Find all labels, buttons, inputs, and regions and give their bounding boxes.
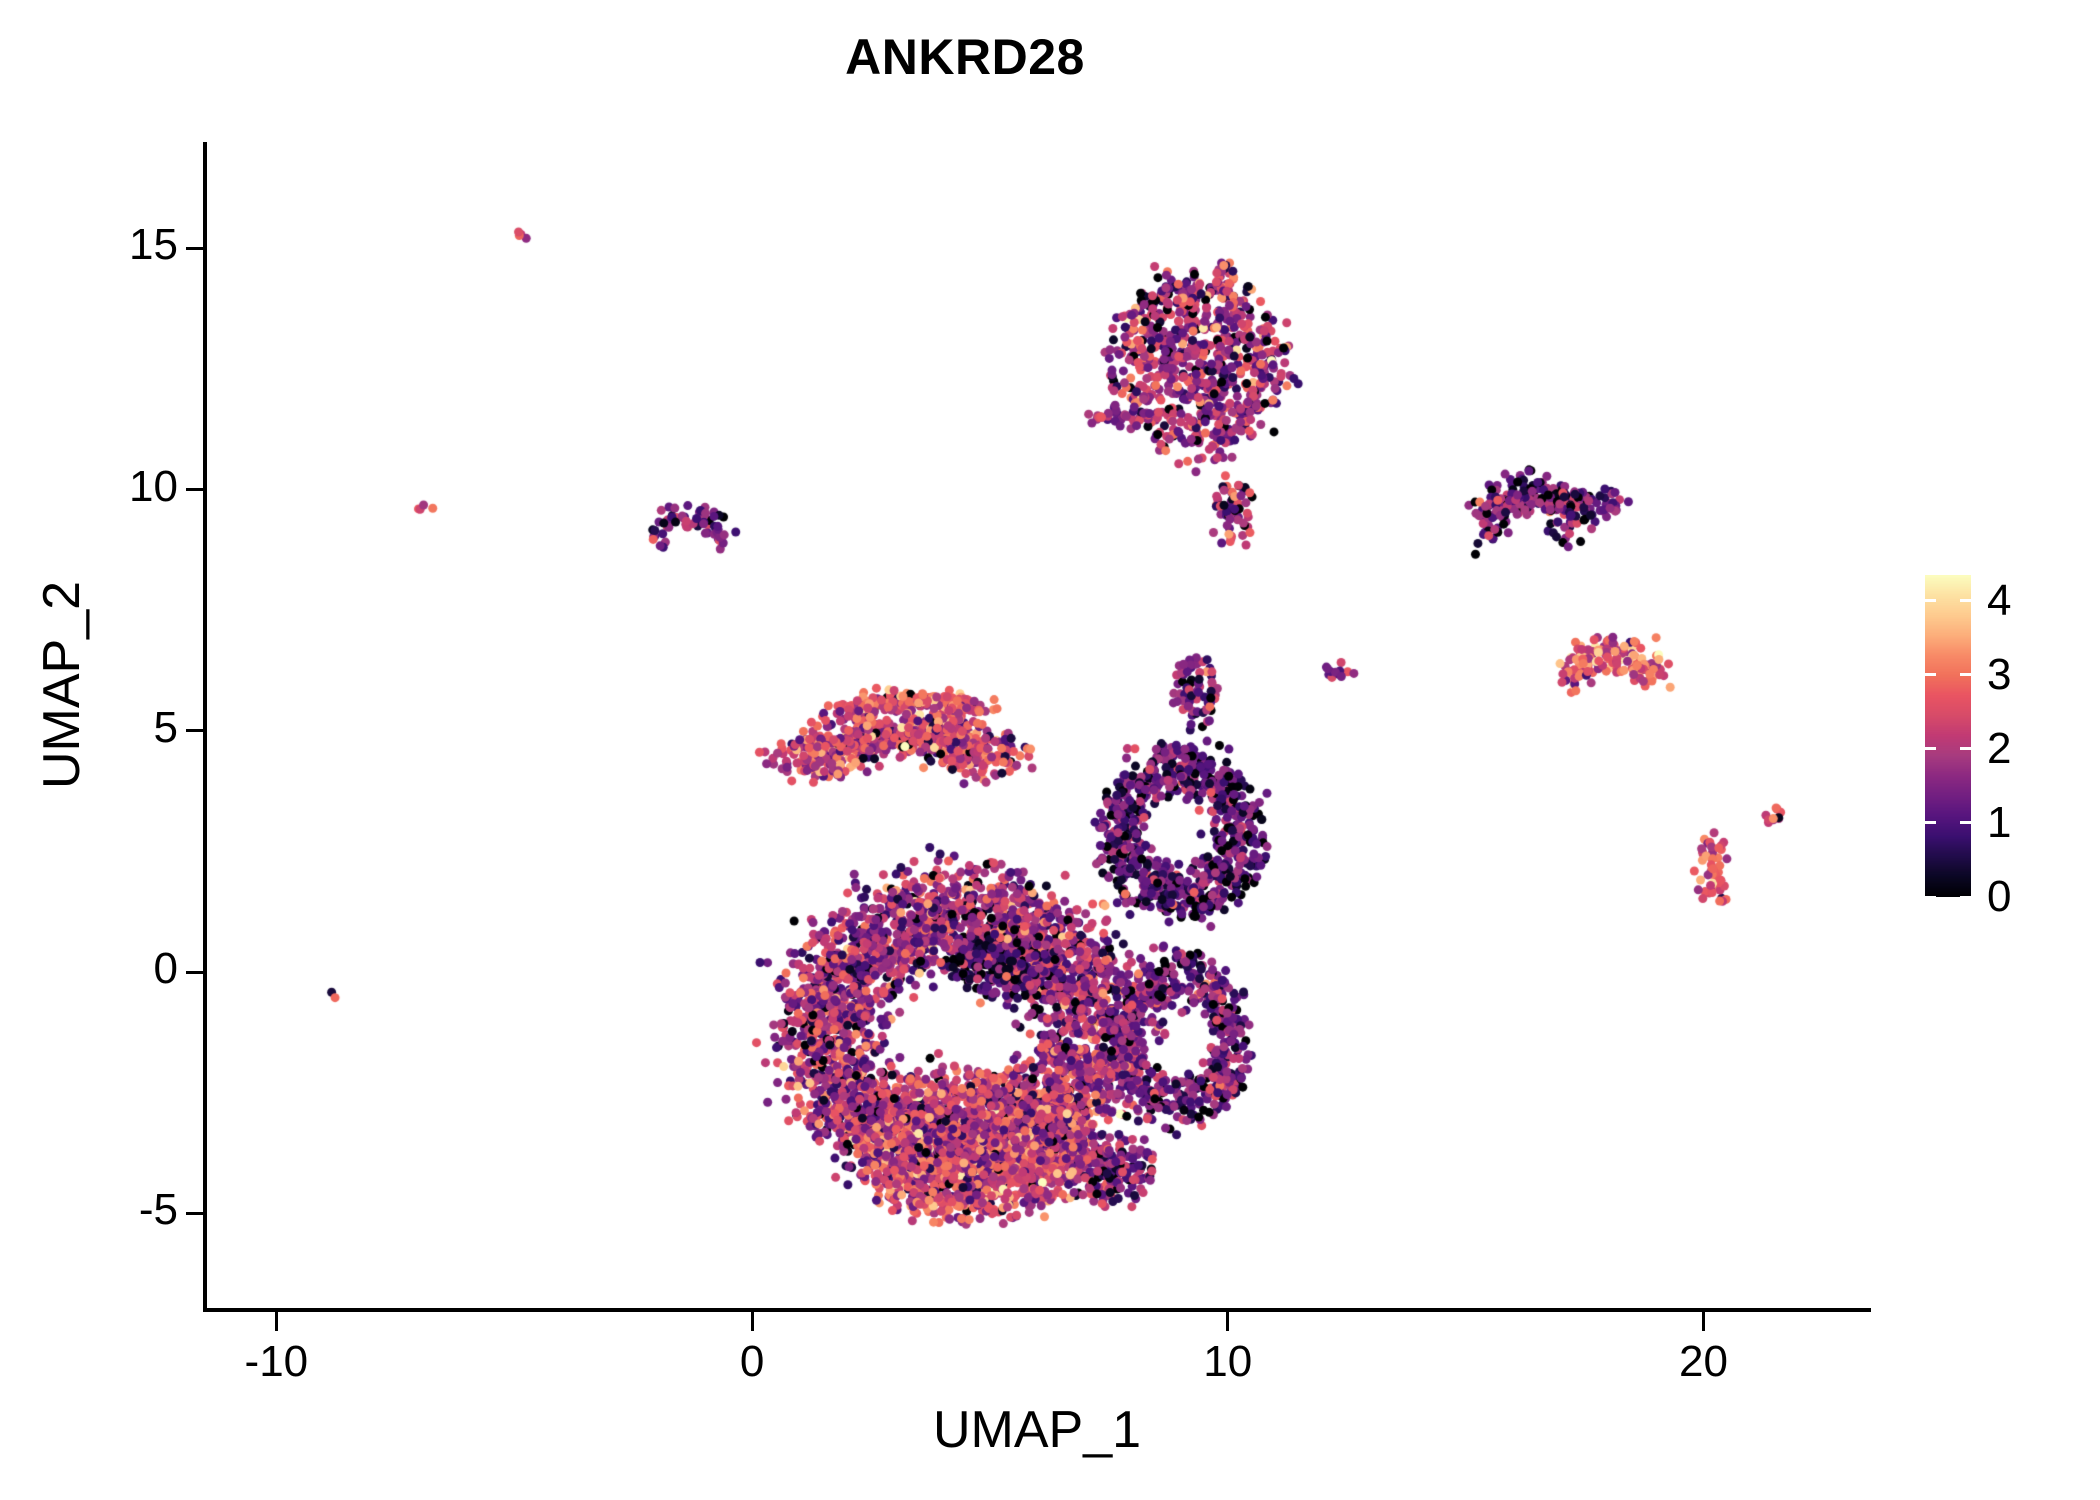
y-tick-mark xyxy=(186,1212,204,1215)
y-tick-mark xyxy=(186,488,204,491)
colorbar-tick-label: 4 xyxy=(1987,576,2011,626)
x-tick-mark xyxy=(275,1312,278,1331)
colorbar-tick-mark xyxy=(1960,673,1971,676)
page-title: ANKRD28 xyxy=(0,28,1930,86)
colorbar-tick-label: 2 xyxy=(1987,724,2011,774)
color-legend: 01234 xyxy=(1925,575,2095,905)
colorbar-tick-mark xyxy=(1960,599,1971,602)
y-tick-label: 5 xyxy=(154,703,178,753)
y-tick-label: 15 xyxy=(129,220,178,270)
y-axis-line xyxy=(203,142,207,1312)
colorbar-tick-mark xyxy=(1925,673,1936,676)
colorbar-tick-label: 0 xyxy=(1987,872,2011,922)
x-tick-mark xyxy=(1702,1312,1705,1331)
scatter-points-canvas xyxy=(205,142,1870,1310)
y-axis-title: UMAP_2 xyxy=(32,435,92,935)
colorbar-tick-mark xyxy=(1960,896,1971,899)
x-tick-label: -10 xyxy=(245,1337,309,1387)
x-tick-label: 20 xyxy=(1679,1337,1728,1387)
colorbar-tick-mark xyxy=(1925,896,1936,899)
x-tick-label: 10 xyxy=(1203,1337,1252,1387)
y-tick-mark xyxy=(186,247,204,250)
x-tick-label: 0 xyxy=(740,1337,764,1387)
y-tick-label: 0 xyxy=(154,944,178,994)
colorbar-tick-mark xyxy=(1925,599,1936,602)
colorbar-tick-label: 1 xyxy=(1987,798,2011,848)
x-tick-mark xyxy=(1226,1312,1229,1331)
x-axis-line xyxy=(203,1308,1871,1312)
x-axis-title: UMAP_1 xyxy=(203,1400,1871,1460)
colorbar-tick-mark xyxy=(1925,747,1936,750)
colorbar-tick-mark xyxy=(1925,821,1936,824)
colorbar-gradient xyxy=(1925,575,1971,897)
x-tick-mark xyxy=(751,1312,754,1331)
y-tick-label: -5 xyxy=(139,1185,178,1235)
y-tick-label: 10 xyxy=(129,462,178,512)
y-tick-mark xyxy=(186,729,204,732)
colorbar-tick-mark xyxy=(1960,821,1971,824)
y-tick-mark xyxy=(186,971,204,974)
umap-feature-plot: ANKRD28 -5051015 -1001020 UMAP_2 UMAP_1 … xyxy=(0,0,2100,1500)
colorbar-tick-mark xyxy=(1960,747,1971,750)
colorbar-tick-label: 3 xyxy=(1987,650,2011,700)
scatter-plot-panel xyxy=(205,142,1870,1310)
